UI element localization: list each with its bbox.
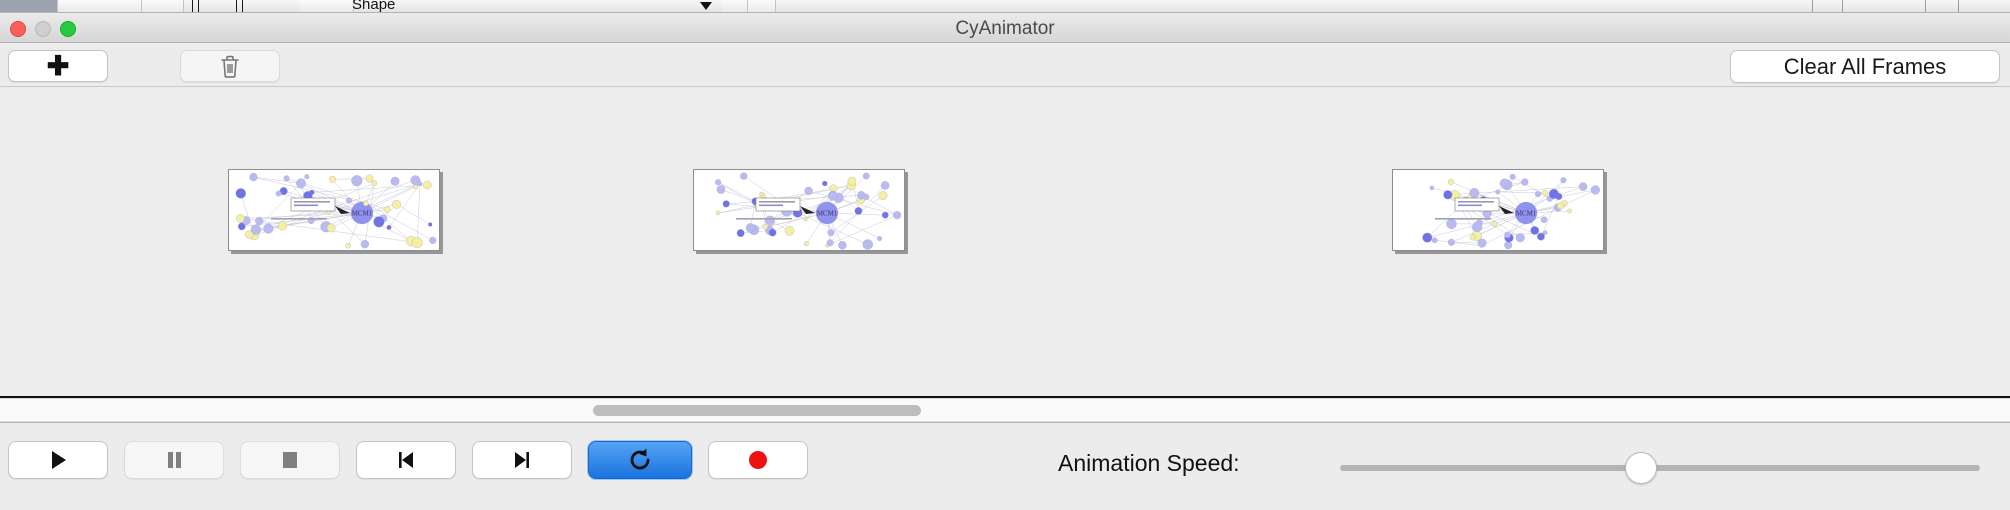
animation-speed-slider[interactable] — [1340, 465, 1980, 471]
svg-text:MCM1: MCM1 — [817, 210, 838, 218]
timeline-panel[interactable]: MCM1MCM1MCM1 2131415161718 Seconds — [0, 88, 2010, 398]
network-graph: MCM1 — [694, 170, 905, 251]
bg-tab — [300, 0, 354, 13]
clear-all-frames-button[interactable]: Clear All Frames — [1730, 50, 2000, 83]
timeline-scrollbar[interactable] — [0, 398, 2010, 422]
play-icon — [46, 448, 70, 472]
bg-sort-arrow-icon — [700, 2, 712, 10]
timeline-scrollbar-thumb[interactable] — [593, 405, 921, 416]
bg-divider — [1812, 0, 1813, 13]
bg-tab — [58, 0, 142, 13]
bg-divider — [192, 0, 193, 13]
add-frame-button[interactable]: ✚ — [8, 50, 108, 82]
bg-tab — [748, 0, 776, 13]
playback-control-bar: Animation Speed: — [0, 422, 2010, 510]
record-icon — [747, 449, 769, 471]
trash-icon — [220, 55, 240, 78]
network-graph: MCM1 — [1393, 170, 1604, 251]
pause-button[interactable] — [124, 441, 224, 479]
bg-divider — [198, 0, 199, 13]
clear-all-frames-label: Clear All Frames — [1784, 54, 1947, 80]
frame-thumbnail-3[interactable]: MCM1 — [1392, 169, 1604, 251]
bg-divider — [1842, 0, 1843, 13]
skip-forward-icon — [511, 449, 533, 471]
frame-thumbnail-1[interactable]: MCM1 — [228, 169, 440, 251]
bg-divider — [1958, 0, 1959, 13]
plus-icon: ✚ — [47, 53, 70, 80]
stop-icon — [280, 450, 300, 470]
bg-divider — [242, 0, 243, 13]
bg-tab — [142, 0, 184, 13]
next-frame-button[interactable] — [472, 441, 572, 479]
bg-divider — [1925, 0, 1926, 13]
animation-speed-label: Animation Speed: — [1058, 450, 1240, 477]
record-button[interactable] — [708, 441, 808, 479]
stop-button[interactable] — [240, 441, 340, 479]
window-title: CyAnimator — [0, 18, 2010, 40]
animation-speed-slider-thumb[interactable] — [1625, 452, 1657, 484]
network-graph: MCM1 — [229, 170, 440, 251]
cyanimator-window: Shape CyAnimator ✚ Clear All — [0, 0, 2010, 510]
background-window-strip: Shape — [0, 0, 2010, 13]
bg-window-label: Shape — [352, 0, 395, 13]
prev-frame-button[interactable] — [356, 441, 456, 479]
loop-button[interactable] — [588, 441, 692, 479]
skip-back-icon — [395, 449, 417, 471]
bg-tab — [722, 0, 748, 13]
pause-icon — [163, 449, 185, 471]
frame-thumbnail-2[interactable]: MCM1 — [693, 169, 905, 251]
frame-toolbar: ✚ Clear All Frames — [0, 43, 2010, 87]
delete-frame-button[interactable] — [180, 50, 280, 82]
loop-icon — [627, 447, 653, 473]
title-bar[interactable]: CyAnimator — [0, 13, 2010, 43]
svg-text:MCM1: MCM1 — [352, 210, 373, 218]
bg-divider — [236, 0, 237, 13]
play-button[interactable] — [8, 441, 108, 479]
bg-tab-selected — [0, 0, 58, 13]
svg-text:MCM1: MCM1 — [1516, 210, 1537, 218]
